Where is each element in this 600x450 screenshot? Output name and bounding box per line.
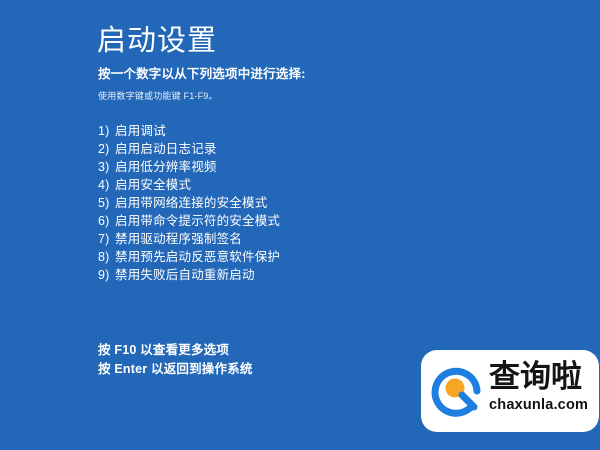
option-label: 启用低分辨率视频: [115, 160, 217, 174]
list-item[interactable]: 7)禁用驱动程序强制签名: [98, 230, 518, 248]
brand-domain: chaxunla.com: [489, 397, 599, 414]
instruction-text: 按一个数字以从下列选项中进行选择:: [98, 66, 306, 82]
option-label: 启用调试: [115, 124, 166, 138]
magnifier-logo-icon: [429, 362, 487, 420]
option-key: 1): [98, 122, 115, 140]
list-item[interactable]: 4)启用安全模式: [98, 176, 518, 194]
option-key: 3): [98, 158, 115, 176]
option-key: 2): [98, 140, 115, 158]
page-title: 启动设置: [97, 24, 217, 58]
option-label: 启用启动日志记录: [115, 142, 217, 156]
site-watermark: 查询啦 chaxunla.com: [421, 350, 599, 432]
list-item[interactable]: 9)禁用失败后自动重新启动: [98, 266, 518, 284]
option-key: 5): [98, 194, 115, 212]
option-label: 启用带网络连接的安全模式: [115, 196, 267, 210]
watermark-inner: 查询啦 chaxunla.com: [429, 356, 599, 428]
brand-name-cn: 查询啦: [489, 358, 599, 396]
option-label: 禁用驱动程序强制签名: [115, 232, 242, 246]
startup-options-list: 1)启用调试 2)启用启动日志记录 3)启用低分辨率视频 4)启用安全模式 5)…: [98, 122, 518, 284]
option-key: 9): [98, 266, 115, 284]
option-key: 8): [98, 248, 115, 266]
list-item[interactable]: 5)启用带网络连接的安全模式: [98, 194, 518, 212]
list-item[interactable]: 6)启用带命令提示符的安全模式: [98, 212, 518, 230]
option-label: 启用带命令提示符的安全模式: [115, 214, 280, 228]
option-label: 禁用失败后自动重新启动: [115, 268, 255, 282]
brand-block: 查询啦 chaxunla.com: [489, 358, 599, 414]
list-item[interactable]: 3)启用低分辨率视频: [98, 158, 518, 176]
startup-settings-screen: 启动设置 按一个数字以从下列选项中进行选择: 使用数字键或功能键 F1-F9。 …: [0, 0, 600, 450]
list-item[interactable]: 8)禁用预先启动反恶意软件保护: [98, 248, 518, 266]
list-item[interactable]: 1)启用调试: [98, 122, 518, 140]
list-item[interactable]: 2)启用启动日志记录: [98, 140, 518, 158]
option-label: 启用安全模式: [115, 178, 191, 192]
option-label: 禁用预先启动反恶意软件保护: [115, 250, 280, 264]
option-key: 6): [98, 212, 115, 230]
keyboard-hint-text: 使用数字键或功能键 F1-F9。: [98, 90, 218, 103]
option-key: 4): [98, 176, 115, 194]
option-key: 7): [98, 230, 115, 248]
